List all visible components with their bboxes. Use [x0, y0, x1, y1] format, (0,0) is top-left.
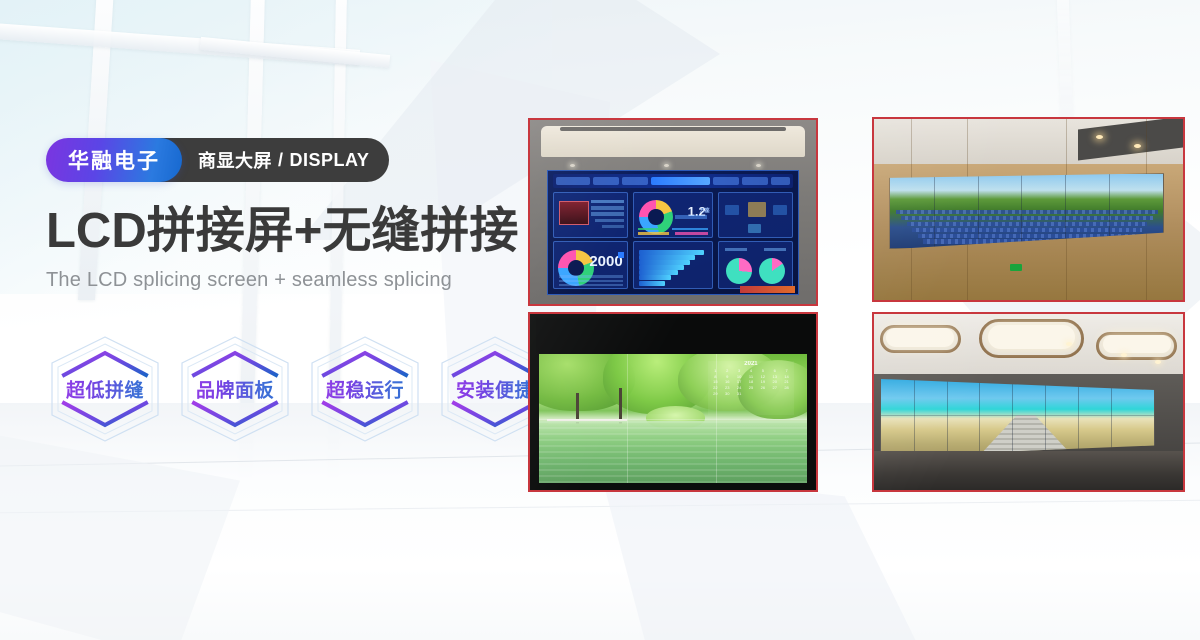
- feature-badge-label: 品牌面板: [176, 376, 294, 403]
- brand-category-cn-label: 商显大屏: [198, 147, 272, 173]
- feature-badge-2: 品牌面板: [176, 333, 294, 445]
- video-wall-screen: 2021 1234567 891011121314 15161718192021…: [530, 314, 816, 490]
- brand-name-label: 华融电子: [68, 145, 160, 175]
- brand-separator: /: [278, 150, 284, 171]
- feature-badge-3: 超稳运行: [306, 333, 424, 445]
- feature-badge-label: 超低拼缝: [46, 376, 164, 403]
- feature-badge-list: 超低拼缝 品牌面板: [46, 333, 554, 445]
- video-wall-screen: [880, 377, 1155, 456]
- photo-beach-boardwalk-video-wall: [872, 312, 1185, 492]
- video-wall-screen: 1.2 万座: [547, 170, 799, 295]
- brand-category-en-label: DISPLAY: [290, 150, 370, 171]
- page-title: LCD拼接屏+无缝拼接: [46, 204, 526, 259]
- brand-badge: 华融电子 商显大屏 / DISPLAY: [46, 138, 526, 182]
- photo-dashboard-video-wall: 1.2 万座: [528, 118, 818, 306]
- photo-solar-farm-video-wall: [872, 117, 1185, 302]
- brand-name-chip: 华融电子: [46, 138, 182, 182]
- page-subtitle: The LCD splicing screen + seamless splic…: [46, 269, 526, 292]
- calendar-overlay: 2021 1234567 891011121314 15161718192021…: [708, 361, 794, 415]
- promo-banner: 华融电子 商显大屏 / DISPLAY LCD拼接屏+无缝拼接 The LCD …: [0, 0, 1200, 640]
- feature-badge-1: 超低拼缝: [46, 333, 164, 445]
- photo-lake-scenery-video-wall: 2021 1234567 891011121314 15161718192021…: [528, 312, 818, 492]
- brand-category-chip: 商显大屏 / DISPLAY: [156, 138, 389, 182]
- text-column: 华融电子 商显大屏 / DISPLAY LCD拼接屏+无缝拼接 The LCD …: [46, 138, 526, 292]
- feature-badge-label: 超稳运行: [306, 376, 424, 403]
